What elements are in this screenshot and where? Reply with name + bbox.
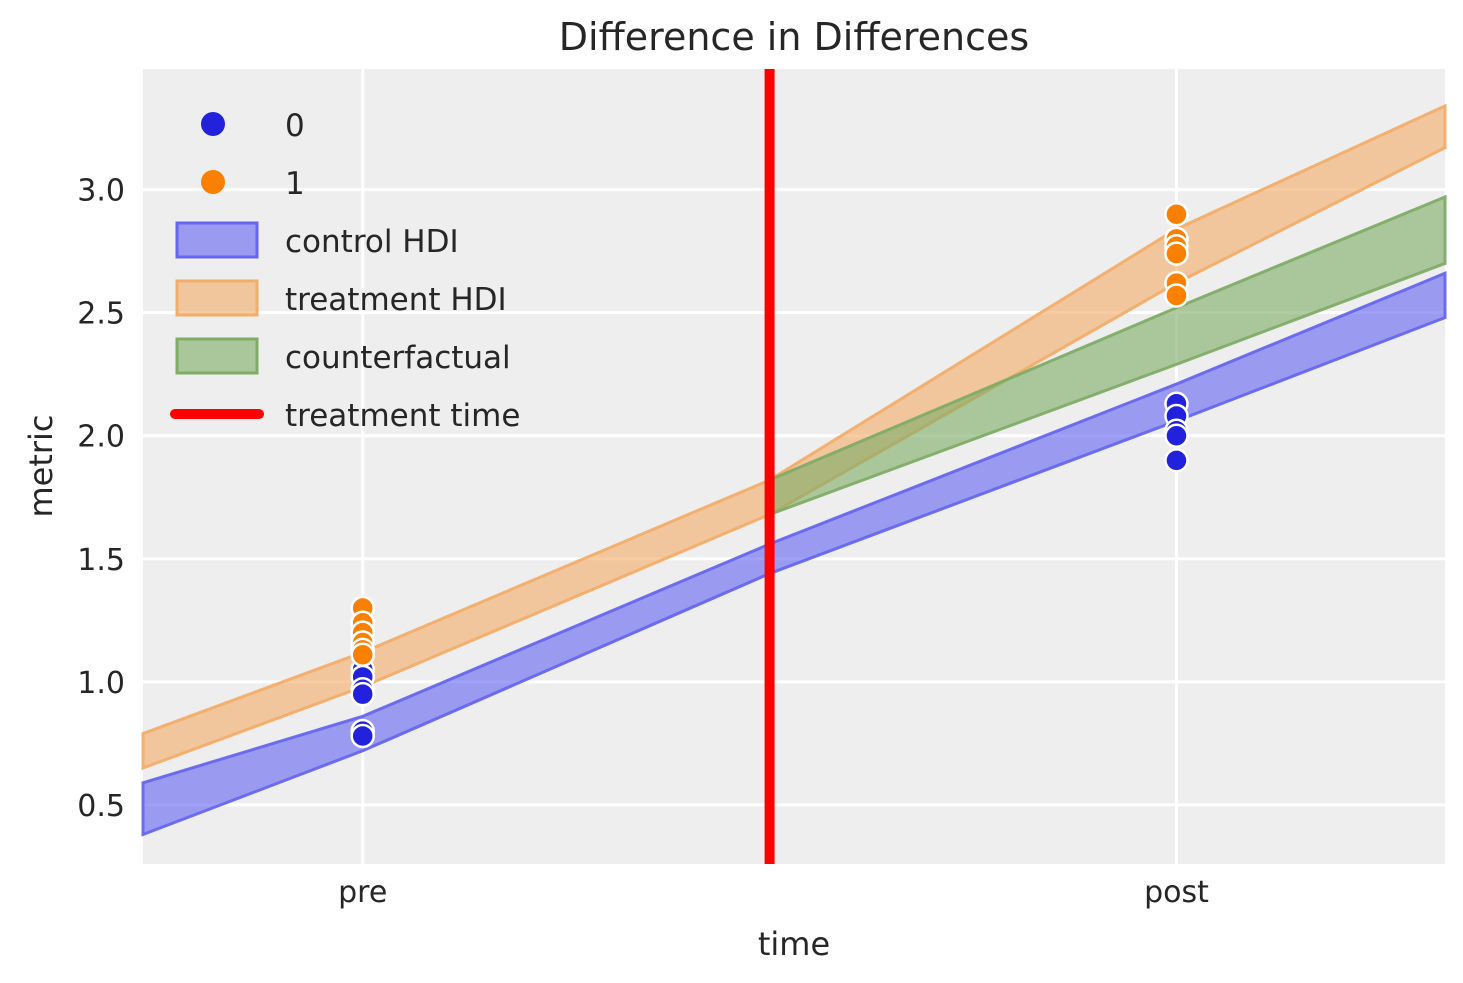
x-tick-label: pre bbox=[338, 875, 387, 910]
legend-label: control HDI bbox=[285, 224, 459, 260]
scatter-point-group-0 bbox=[1165, 425, 1187, 447]
legend-marker-patch bbox=[177, 223, 257, 257]
y-tick-label: 1.5 bbox=[77, 543, 125, 578]
y-axis-title: metric bbox=[22, 414, 60, 517]
legend-label: counterfactual bbox=[285, 340, 511, 376]
y-tick-label: 3.0 bbox=[77, 174, 125, 209]
legend-label: 1 bbox=[285, 166, 305, 202]
chart-title: Difference in Differences bbox=[559, 15, 1029, 59]
figure-container: 0.51.01.52.02.53.0 prepost Difference in… bbox=[0, 0, 1463, 983]
scatter-point-group-0 bbox=[352, 725, 374, 747]
scatter-point-group-1 bbox=[1165, 284, 1187, 306]
scatter-point-group-1 bbox=[1165, 243, 1187, 265]
y-tick-label: 0.5 bbox=[77, 789, 125, 824]
legend-label: treatment HDI bbox=[285, 282, 507, 318]
scatter-point-group-1 bbox=[352, 644, 374, 666]
legend-marker-dot bbox=[201, 170, 225, 194]
legend-marker-patch bbox=[177, 281, 257, 315]
y-tick-label: 1.0 bbox=[77, 666, 125, 701]
legend-marker-patch bbox=[177, 339, 257, 373]
difference-in-differences-chart: 0.51.01.52.02.53.0 prepost Difference in… bbox=[0, 0, 1463, 983]
x-tick-label: post bbox=[1144, 875, 1209, 910]
scatter-point-group-1 bbox=[1165, 203, 1187, 225]
scatter-point-group-0 bbox=[352, 683, 374, 705]
y-tick-label: 2.5 bbox=[77, 297, 125, 332]
x-axis-title: time bbox=[758, 925, 830, 963]
y-tick-label: 2.0 bbox=[77, 420, 125, 455]
legend-marker-dot bbox=[201, 112, 225, 136]
legend-label: treatment time bbox=[285, 398, 520, 434]
legend-label: 0 bbox=[285, 108, 305, 144]
scatter-point-group-0 bbox=[1165, 449, 1187, 471]
